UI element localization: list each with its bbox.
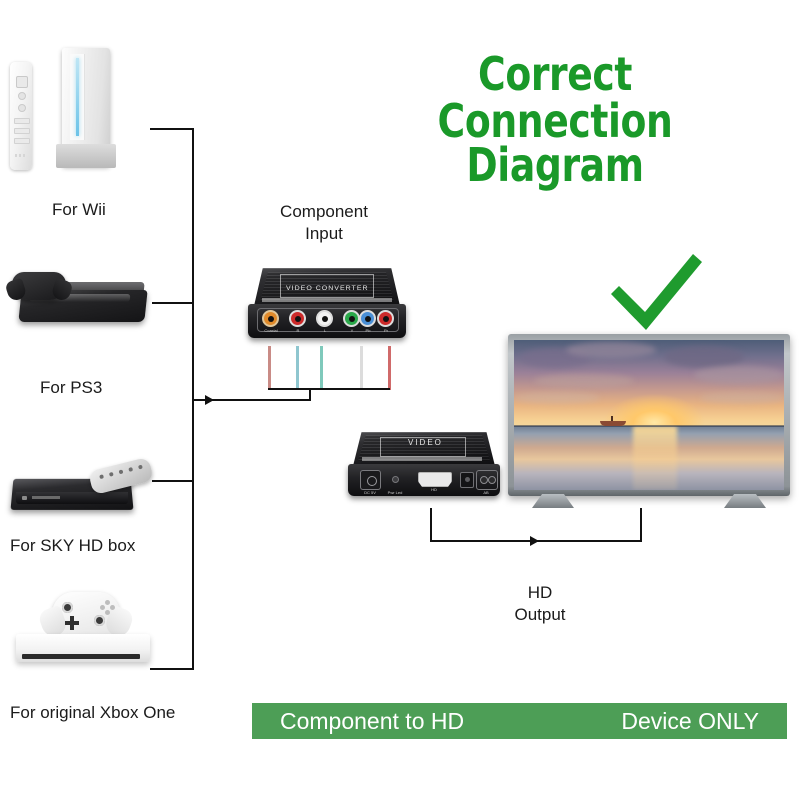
bracket-stub-ps3 <box>152 302 194 304</box>
hd-output-device[interactable]: VIDEO DC 5V Pwr Led HD AB <box>348 432 500 504</box>
wii-remote-icon <box>10 62 32 170</box>
port-label-dc: DC 5V <box>360 490 380 495</box>
port-label-pr: Pr <box>374 328 398 333</box>
hdmi-cable-left-leg <box>430 508 432 542</box>
banner-right-text: Device ONLY <box>621 708 759 735</box>
title-line-1: Correct <box>371 52 740 97</box>
port-label-l: L <box>313 328 337 333</box>
diagram-canvas: Correct Connection Diagram For Wii For P… <box>0 0 800 800</box>
dc-power-jack[interactable] <box>360 470 381 490</box>
hd-output-label-line2: Output <box>470 605 610 625</box>
sky-hd-box-icon <box>8 460 158 522</box>
bracket-stub-sky <box>152 480 194 482</box>
component-input-label-line2: Input <box>254 224 394 244</box>
green-check-icon <box>605 250 705 336</box>
cable-blue <box>296 346 299 390</box>
tv-stand-left <box>532 494 574 508</box>
rca-port-y[interactable] <box>343 310 360 327</box>
component-to-hd-converter[interactable]: VIDEO CONVERTER Coaxial R L Y Pb Pr <box>248 268 406 348</box>
port-label-ab: AB <box>476 490 496 495</box>
source-label-wii: For Wii <box>52 200 106 220</box>
source-label-xbox: For original Xbox One <box>10 703 175 723</box>
cable-red-left <box>268 346 271 390</box>
bottom-banner: Component to HD Device ONLY <box>252 703 787 739</box>
cable-bus-drop <box>309 388 311 401</box>
trunk-arrow-icon <box>205 395 214 405</box>
hd-tv <box>508 334 790 516</box>
converter-wordmark: VIDEO CONVERTER <box>286 285 369 291</box>
xbox-one-console-icon <box>12 590 157 670</box>
rca-port-coaxial[interactable] <box>262 310 279 327</box>
port-label-pwr: Pwr Led <box>384 490 406 495</box>
cable-white <box>360 346 363 390</box>
rca-port-pb[interactable] <box>359 310 376 327</box>
port-label-r: R <box>286 328 310 333</box>
port-label-coaxial: Coaxial <box>259 328 283 333</box>
cable-green <box>320 346 323 390</box>
component-input-label-line1: Component <box>254 202 394 222</box>
xbox-controller-icon <box>52 592 120 636</box>
rca-port-pr[interactable] <box>377 310 394 327</box>
title-line-2: Connection Diagram <box>371 99 740 188</box>
cable-bus-line <box>268 388 390 390</box>
hd-device-wordmark: VIDEO <box>408 438 443 447</box>
switch-pair[interactable] <box>476 470 498 490</box>
tv-stand-right <box>724 494 766 508</box>
cable-red-right <box>388 346 391 390</box>
banner-left-text: Component to HD <box>280 708 464 735</box>
audio-jack[interactable] <box>460 472 474 488</box>
bracket-stub-wii <box>150 128 194 130</box>
rca-port-l[interactable] <box>316 310 333 327</box>
source-label-ps3: For PS3 <box>40 378 102 398</box>
rca-port-r[interactable] <box>289 310 306 327</box>
hdmi-arrow-icon <box>530 536 539 546</box>
source-label-sky: For SKY HD box <box>10 536 135 556</box>
ps3-console-icon <box>12 272 152 334</box>
wii-console-icon <box>62 48 110 166</box>
port-label-hd: HD <box>426 487 442 492</box>
bracket-stub-xbox <box>150 668 194 670</box>
tv-screen <box>514 340 784 490</box>
hd-output-label-line1: HD <box>470 583 610 603</box>
hdmi-port[interactable] <box>418 472 452 487</box>
page-title: Correct Connection Diagram <box>330 52 780 188</box>
power-led-icon <box>392 476 399 483</box>
boat-in-scene <box>600 416 626 426</box>
